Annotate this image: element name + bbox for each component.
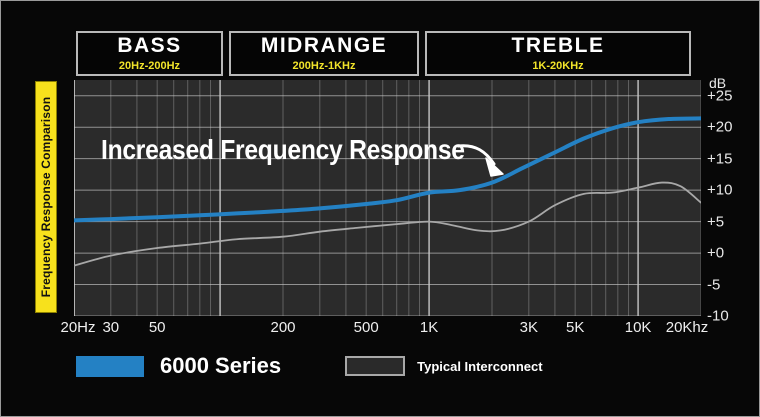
legend: 6000 Series Typical Interconnect	[76, 353, 543, 379]
plot-area	[74, 80, 701, 316]
band-range: 1K-20KHz	[532, 59, 583, 73]
band-name: TREBLE	[512, 35, 605, 57]
band-box-bass: BASS20Hz-200Hz	[76, 31, 223, 76]
legend-item-0: 6000 Series	[76, 353, 281, 379]
legend-label-6000-series: 6000 Series	[160, 353, 281, 379]
band-box-treble: TREBLE1K-20KHz	[425, 31, 691, 76]
y-tick-label: +5	[707, 213, 724, 230]
y-tick-label: +20	[707, 119, 732, 136]
band-name: BASS	[117, 35, 181, 57]
band-name: MIDRANGE	[261, 35, 387, 57]
x-tick-label: 500	[354, 319, 379, 336]
x-tick-label: 5K	[566, 319, 584, 336]
legend-item-1: Typical Interconnect	[345, 356, 542, 376]
side-label-tab: Frequency Response Comparison	[35, 81, 57, 313]
annotation-arrow-icon	[456, 136, 516, 181]
band-range: 20Hz-200Hz	[119, 59, 180, 73]
x-tick-label: 10K	[625, 319, 652, 336]
x-tick-label: 200	[270, 319, 295, 336]
frequency-response-chart: BASS20Hz-200HzMIDRANGE200Hz-1KHzTREBLE1K…	[0, 0, 760, 417]
y-tick-label: +15	[707, 150, 732, 167]
legend-label-typical-interconnect: Typical Interconnect	[417, 359, 542, 374]
y-tick-label: +0	[707, 245, 724, 262]
x-tick-label: 1K	[420, 319, 438, 336]
x-tick-label: 3K	[520, 319, 538, 336]
x-tick-label: 30	[102, 319, 119, 336]
band-range: 200Hz-1KHz	[293, 59, 356, 73]
series-curves	[74, 80, 701, 316]
y-tick-label: -5	[707, 276, 720, 293]
x-tick-label: 20Khz	[666, 319, 709, 336]
x-tick-label: 50	[149, 319, 166, 336]
legend-swatch-typical-interconnect	[345, 356, 405, 376]
annotation-text: Increased Frequency Response	[101, 134, 465, 166]
y-tick-label: +25	[707, 87, 732, 104]
side-label-text: Frequency Response Comparison	[39, 97, 53, 298]
x-tick-label: 20Hz	[60, 319, 95, 336]
y-tick-label: -10	[707, 308, 729, 325]
y-tick-label: +10	[707, 182, 732, 199]
band-box-midrange: MIDRANGE200Hz-1KHz	[229, 31, 419, 76]
legend-swatch-6000-series	[76, 356, 144, 377]
